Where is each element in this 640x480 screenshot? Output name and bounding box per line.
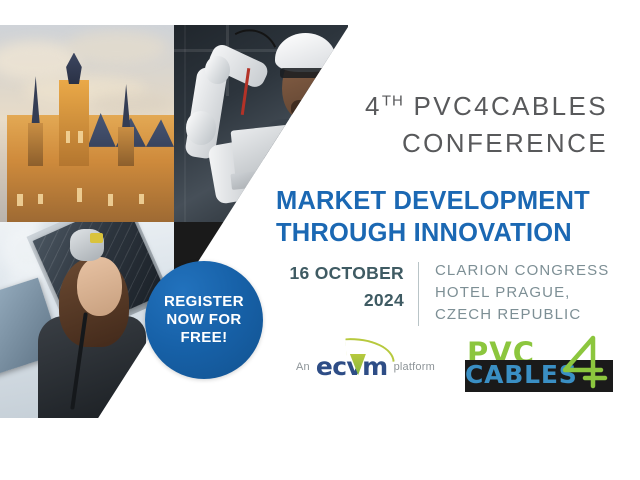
headline: MARKET DEVELOPMENT THROUGH INNOVATION bbox=[276, 185, 624, 249]
headline-line-1: MARKET DEVELOPMENT bbox=[276, 185, 624, 217]
conference-title-line-2: CONFERENCE bbox=[365, 125, 608, 162]
register-now-button[interactable]: REGISTER NOW FOR FREE! bbox=[145, 261, 263, 379]
event-date-line-1: 16 OCTOBER bbox=[276, 260, 404, 287]
event-venue: CLARION CONGRESS HOTEL PRAGUE, CZECH REP… bbox=[419, 260, 609, 326]
event-venue-line-3: CZECH REPUBLIC bbox=[435, 304, 609, 326]
event-venue-line-1: CLARION CONGRESS bbox=[435, 260, 609, 282]
conference-brand: PVC4CABLES bbox=[413, 91, 608, 121]
ecvm-suffix: platform bbox=[394, 361, 435, 373]
event-date-line-2: 2024 bbox=[276, 287, 404, 314]
pvc4cables-logo: PVC CABLES bbox=[465, 336, 613, 392]
headline-line-2: THROUGH INNOVATION bbox=[276, 217, 624, 249]
pvc4cables-numeral-four-icon bbox=[555, 334, 611, 390]
register-line-1: REGISTER bbox=[164, 293, 244, 311]
event-date: 16 OCTOBER 2024 bbox=[276, 260, 418, 313]
conference-title: 4TH PVC4CABLES CONFERENCE bbox=[365, 88, 608, 162]
register-line-3: FREE! bbox=[164, 329, 244, 347]
conference-ordinal-suffix: TH bbox=[382, 92, 404, 109]
ecvm-platform-logo: An ecvm platform bbox=[296, 352, 435, 381]
register-line-2: NOW FOR bbox=[164, 311, 244, 329]
ecvm-swoosh-icon bbox=[345, 336, 394, 364]
conference-banner: REGISTER NOW FOR FREE! 4TH PVC4CABLES CO… bbox=[0, 0, 640, 480]
event-details: 16 OCTOBER 2024 CLARION CONGRESS HOTEL P… bbox=[276, 260, 609, 326]
collage-image-prague-castle bbox=[0, 25, 174, 222]
event-venue-line-2: HOTEL PRAGUE, bbox=[435, 282, 609, 304]
conference-title-line-1: 4TH PVC4CABLES bbox=[365, 88, 608, 125]
conference-ordinal-number: 4 bbox=[365, 91, 382, 121]
ecvm-wordmark: ecvm bbox=[316, 352, 388, 381]
ecvm-prefix: An bbox=[296, 361, 310, 373]
